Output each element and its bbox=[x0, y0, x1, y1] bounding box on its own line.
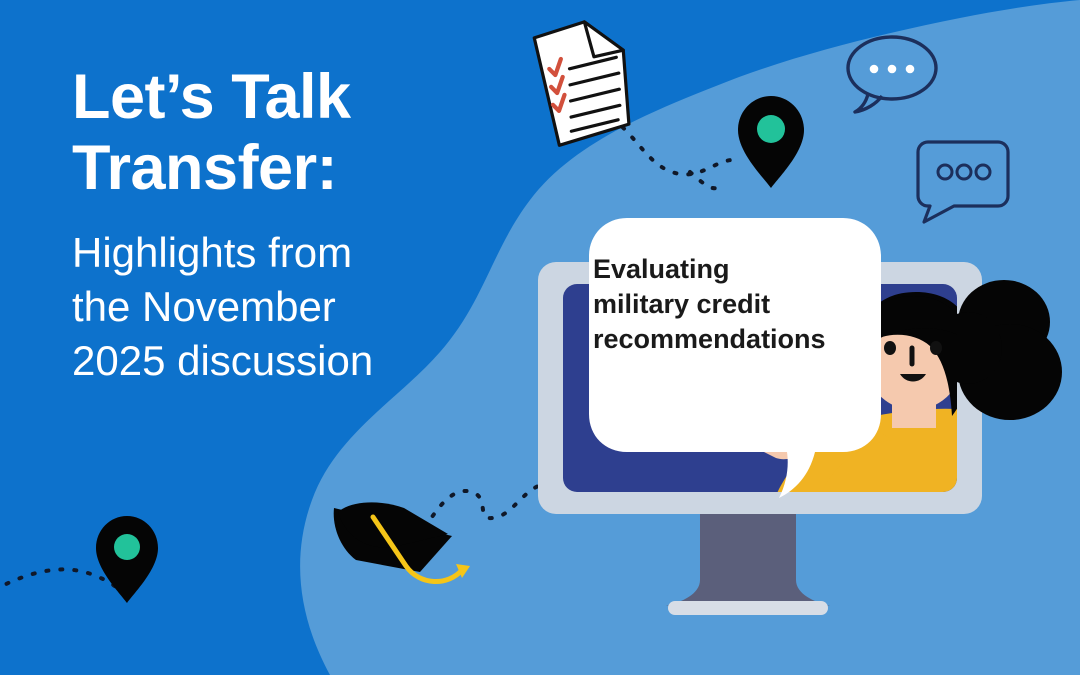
chat-bubble-dot bbox=[906, 65, 915, 74]
chat-bubble-dot bbox=[888, 65, 897, 74]
title-block: Let’s Talk Transfer: Highlights from the… bbox=[72, 62, 492, 388]
map-pin-dot bbox=[114, 534, 140, 560]
person-eye-right bbox=[930, 341, 942, 355]
checklist-document-icon bbox=[533, 17, 636, 147]
chat-bubble-oval-icon bbox=[848, 37, 936, 112]
monitor-stand-base bbox=[668, 601, 828, 615]
poster-canvas: Let’s Talk Transfer: Highlights from the… bbox=[0, 0, 1080, 675]
page-subtitle: Highlights from the November 2025 discus… bbox=[72, 226, 492, 387]
monitor-stand-neck bbox=[666, 508, 830, 606]
chat-bubble-dot bbox=[870, 65, 879, 74]
chat-bubble-square-body bbox=[918, 142, 1008, 222]
chat-bubble-square-icon bbox=[918, 142, 1008, 222]
page-title: Let’s Talk Transfer: bbox=[72, 62, 492, 204]
dotted-path-document-to-pin bbox=[612, 118, 736, 174]
chat-bubble-dot-outline bbox=[976, 165, 990, 179]
speech-bubble-text: Evaluating military credit recommendatio… bbox=[593, 252, 861, 357]
chat-bubble-dot-outline bbox=[938, 165, 952, 179]
map-pin-marker-bottom bbox=[96, 516, 158, 603]
map-pin-marker-top bbox=[738, 96, 804, 188]
person-eye-left bbox=[884, 341, 896, 355]
dotted-path-document-to-pin-2 bbox=[690, 172, 724, 188]
map-pin-dot bbox=[757, 115, 785, 143]
graduation-cap-icon bbox=[334, 502, 470, 581]
chat-bubble-dot-outline bbox=[957, 165, 971, 179]
